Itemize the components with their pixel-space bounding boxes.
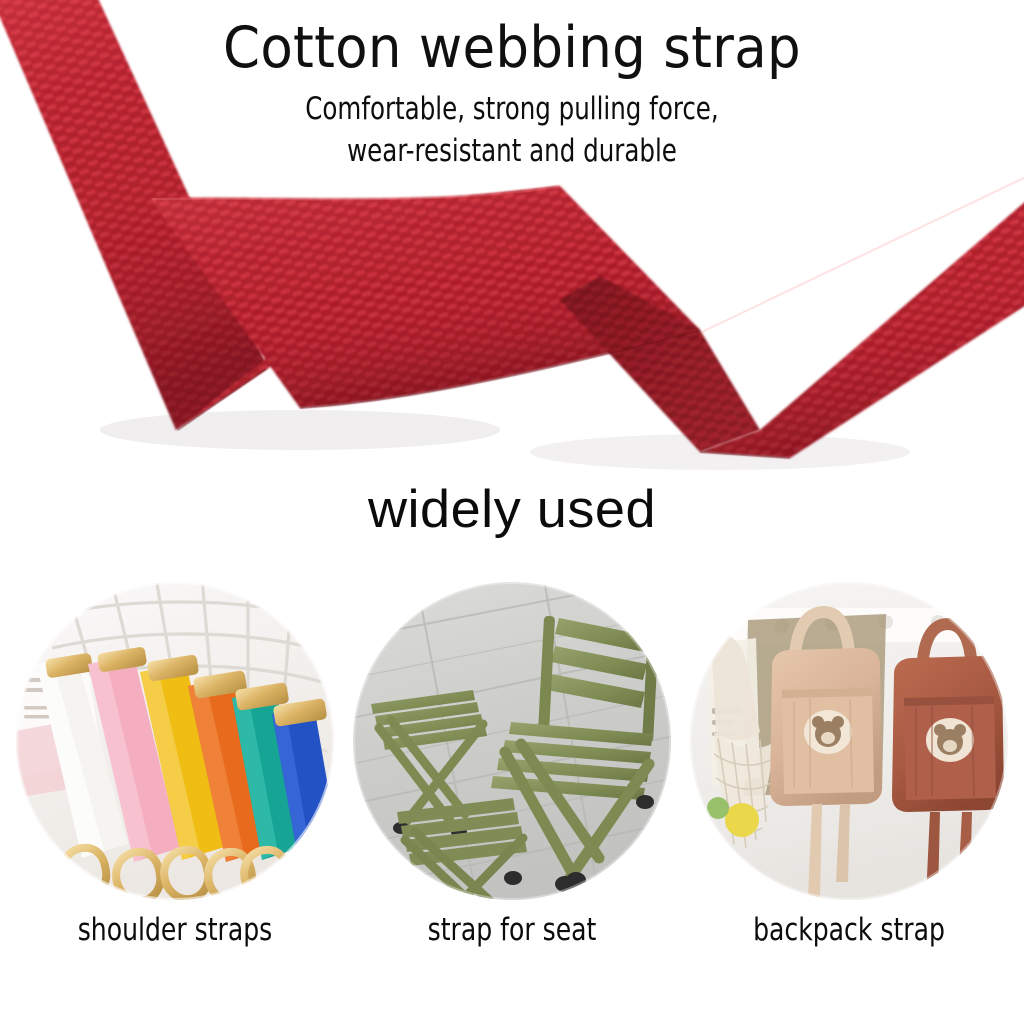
use-case-caption-row: shoulder straps strap for seat backpack … (0, 912, 1024, 972)
product-infographic: Cotton webbing strap Comfortable, strong… (0, 0, 1024, 1024)
page-title: Cotton webbing strap (36, 18, 988, 80)
header-text-block: Cotton webbing strap Comfortable, strong… (0, 18, 1024, 172)
page-subtitle: Comfortable, strong pulling force, wear-… (61, 88, 962, 173)
photo-circle-seat-strap (353, 582, 671, 900)
subtitle-line-1: Comfortable, strong pulling force, (61, 88, 962, 130)
subtitle-line-2: wear-resistant and durable (61, 130, 962, 172)
use-case-2-seat-strap (353, 582, 671, 900)
caption-backpack-strap: backpack strap (706, 912, 992, 948)
use-case-photo-row (0, 582, 1024, 902)
photo-circle-shoulder-straps (16, 582, 334, 900)
caption-strap-for-seat: strap for seat (369, 912, 655, 948)
use-case-1-shoulder-straps (16, 582, 334, 900)
section-heading: widely used (0, 479, 1024, 540)
photo-circle-backpack-strap (690, 582, 1008, 900)
use-case-3-backpack-strap (690, 582, 1008, 900)
caption-shoulder-straps: shoulder straps (32, 912, 318, 948)
